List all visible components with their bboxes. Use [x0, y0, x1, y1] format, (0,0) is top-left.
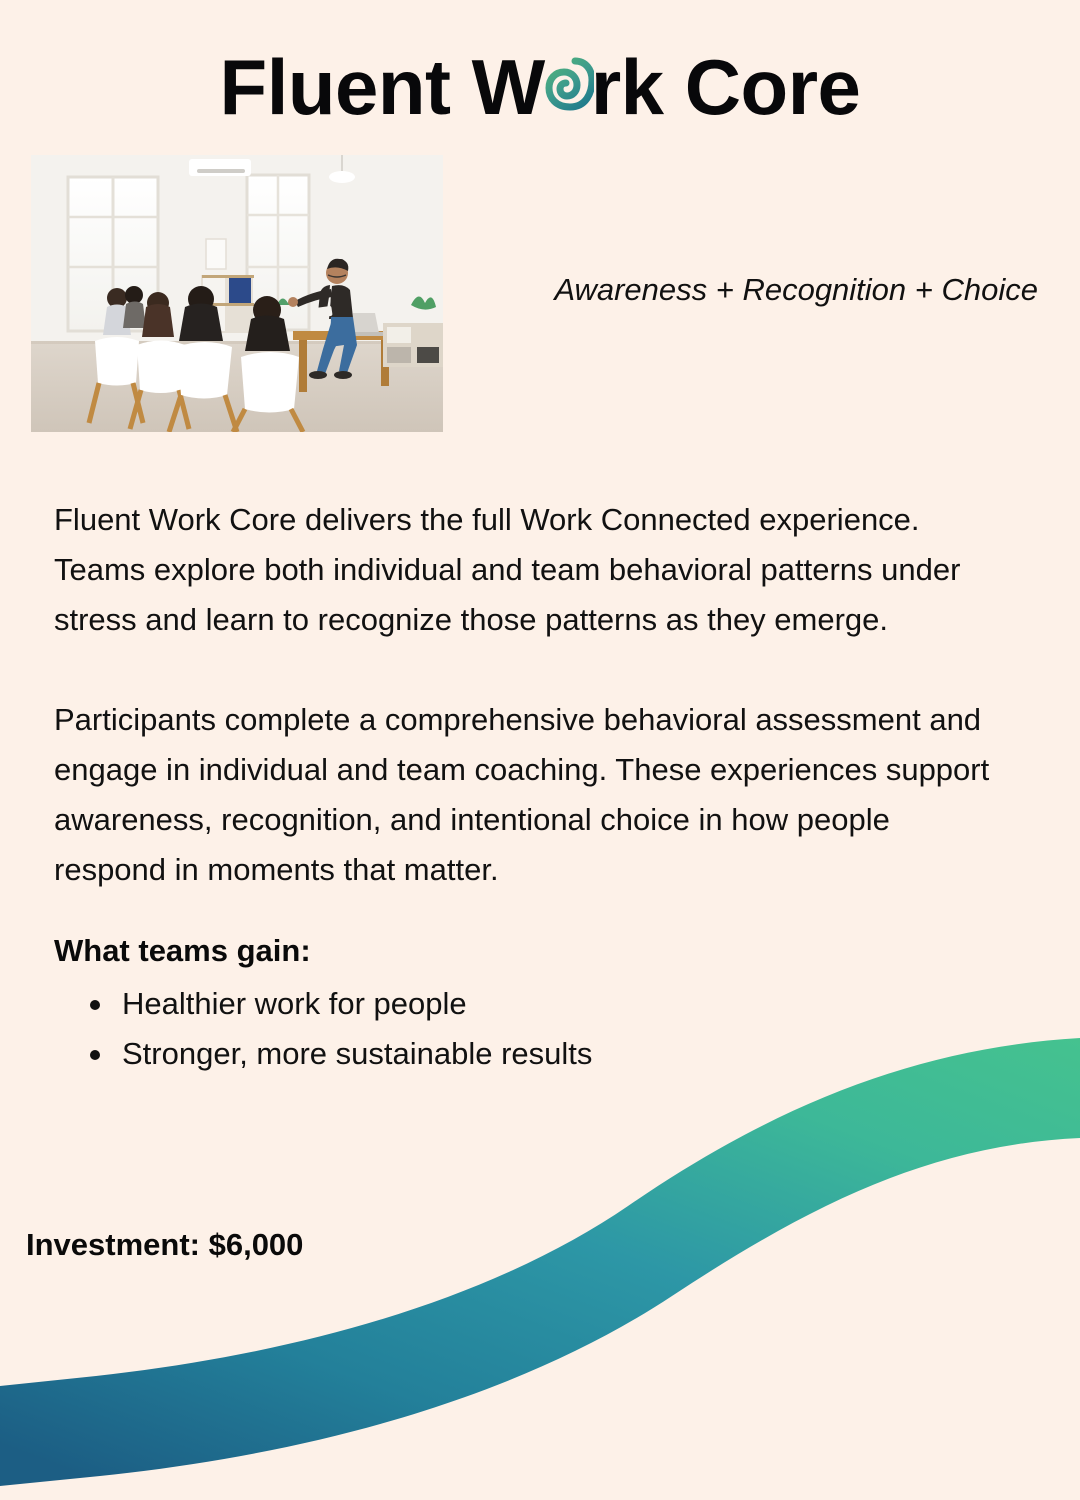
page-title: Fluent W rk Core — [0, 48, 1080, 126]
poster-page: Fluent W rk Core — [0, 0, 1080, 1500]
link-spiral-icon — [542, 53, 594, 115]
title-text-after: rk Core — [591, 48, 861, 126]
list-item-label: Healthier work for people — [122, 986, 467, 1021]
investment-line: Investment: $6,000 — [26, 1227, 303, 1263]
bullet-icon — [90, 1050, 100, 1060]
gain-list: Healthier work for people Stronger, more… — [54, 979, 1014, 1079]
office-workshop-photo — [31, 155, 443, 432]
list-item-label: Stronger, more sustainable results — [122, 1036, 592, 1071]
paragraph-1: Fluent Work Core delivers the full Work … — [54, 495, 994, 645]
tagline: Awareness + Recognition + Choice — [554, 272, 1038, 308]
body-content: Fluent Work Core delivers the full Work … — [54, 495, 1014, 1079]
list-item: Stronger, more sustainable results — [54, 1029, 1014, 1079]
list-item: Healthier work for people — [54, 979, 1014, 1029]
paragraph-2: Participants complete a comprehensive be… — [54, 695, 994, 895]
gain-heading: What teams gain: — [54, 929, 1014, 973]
bullet-icon — [90, 1000, 100, 1010]
title-text-before: Fluent W — [220, 48, 545, 126]
